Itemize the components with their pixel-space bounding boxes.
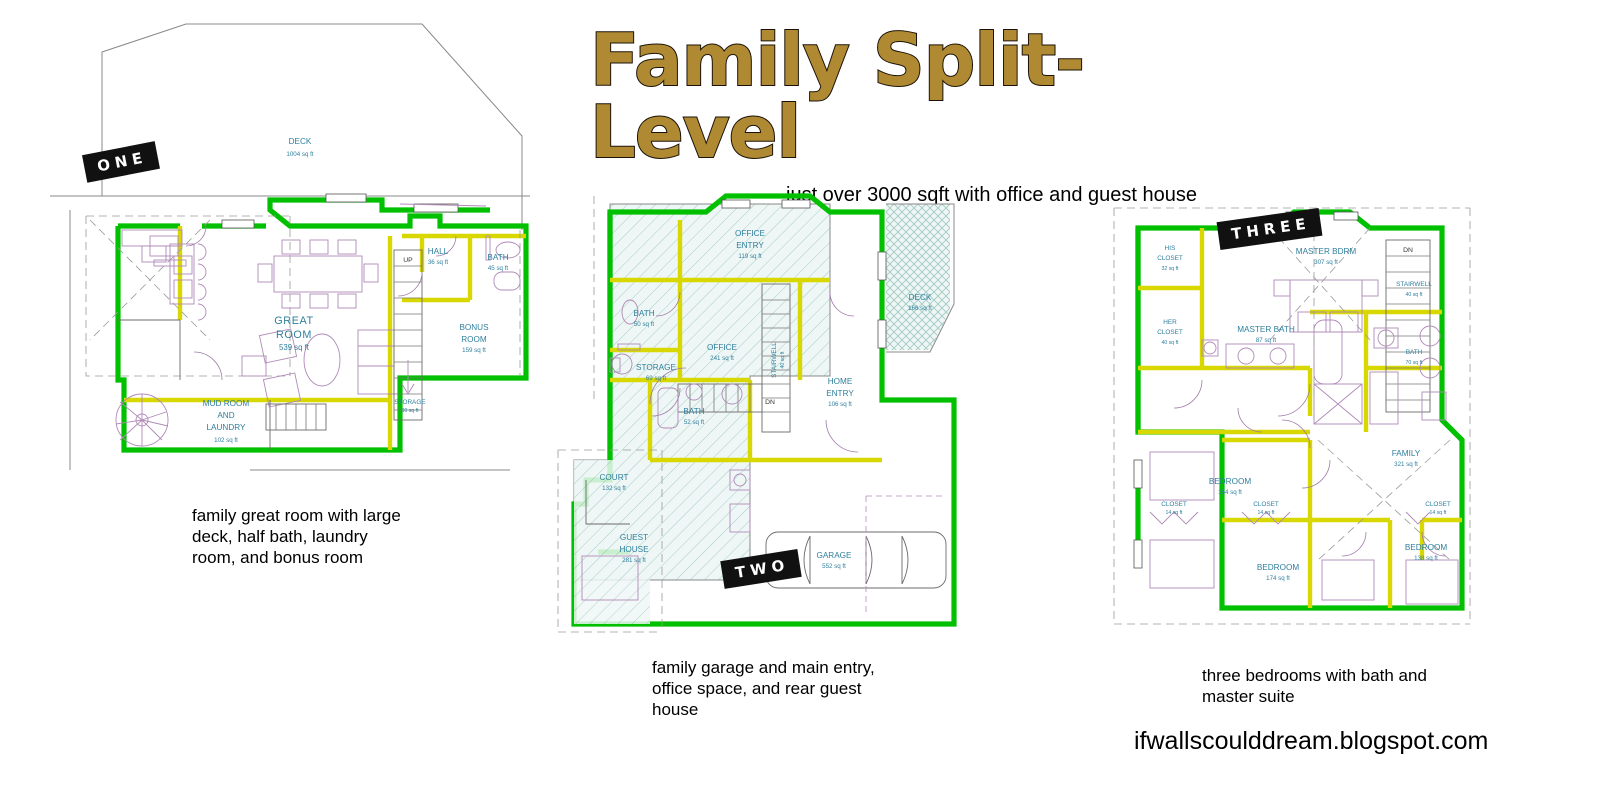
stair-marker-up: UP [403, 257, 413, 264]
kitchen-fixtures [122, 230, 206, 320]
svg-text:BATH: BATH [683, 407, 704, 416]
svg-text:CLOSET: CLOSET [1157, 255, 1183, 262]
svg-text:COURT: COURT [600, 473, 629, 482]
room-label-closet-2: CLOSET 14 sq ft [1253, 501, 1279, 516]
plan-one-caption: family great room with large deck, half … [192, 505, 407, 568]
svg-text:45 sq ft: 45 sq ft [488, 265, 509, 272]
svg-text:14 sq ft: 14 sq ft [1165, 510, 1183, 516]
svg-text:MASTER BDRM: MASTER BDRM [1296, 247, 1357, 256]
svg-text:87 sq ft: 87 sq ft [1256, 337, 1277, 344]
svg-text:MASTER BATH: MASTER BATH [1237, 325, 1295, 334]
svg-text:ROOM: ROOM [461, 335, 487, 344]
master-bath-fixtures [1202, 320, 1398, 424]
svg-text:174 sq ft: 174 sq ft [1266, 575, 1290, 582]
svg-text:HIS: HIS [1165, 245, 1176, 252]
svg-text:GREAT: GREAT [274, 315, 313, 327]
svg-text:CLOSET: CLOSET [1425, 501, 1451, 508]
svg-text:CLOSET: CLOSET [1161, 501, 1187, 508]
dining-furniture [258, 240, 378, 308]
room-label-hall: HALL 36 sq ft [428, 247, 449, 266]
svg-text:FAMILY: FAMILY [1392, 449, 1421, 458]
living-furniture [242, 329, 394, 407]
svg-text:102 sq ft: 102 sq ft [214, 437, 238, 444]
stairwell: DN [1386, 240, 1430, 412]
room-label-closet-3: CLOSET 14 sq ft [1425, 501, 1451, 516]
svg-text:30 sq ft: 30 sq ft [401, 408, 419, 414]
room-label-office-entry: OFFICE ENTRY 119 sq ft [735, 229, 766, 260]
room-label-deck: DECK 1004 sq ft [286, 137, 313, 158]
room-label-her-closet: HER CLOSET 40 sq ft [1157, 319, 1183, 346]
svg-text:DECK: DECK [909, 293, 932, 302]
svg-text:132 sq ft: 132 sq ft [602, 485, 626, 492]
windows [222, 194, 486, 228]
svg-text:154 sq ft: 154 sq ft [1218, 489, 1242, 496]
room-label-bonus-room: BONUS ROOM 159 sq ft [459, 323, 489, 354]
svg-text:166 sq ft: 166 sq ft [908, 305, 932, 312]
svg-text:HOUSE: HOUSE [619, 545, 649, 554]
svg-text:307 sq ft: 307 sq ft [1314, 259, 1338, 266]
room-label-bedroom-2: BEDROOM 138 sq ft [1405, 543, 1447, 562]
room-label-stairwell: STAIRWELL 40 sq ft [1396, 281, 1432, 298]
svg-text:DECK: DECK [289, 137, 312, 146]
svg-text:BATH: BATH [487, 253, 508, 262]
svg-text:HOME: HOME [828, 377, 853, 386]
bath-fixtures [486, 236, 520, 290]
svg-text:BATH: BATH [1406, 349, 1423, 356]
room-label-family: FAMILY 321 sq ft [1392, 449, 1421, 468]
svg-text:40 sq ft: 40 sq ft [1161, 340, 1179, 346]
svg-text:HALL: HALL [428, 247, 449, 256]
room-label-mud-room: MUD ROOM AND LAUNDRY 102 sq ft [203, 399, 250, 444]
svg-text:281 sq ft: 281 sq ft [622, 557, 646, 564]
svg-text:14 sq ft: 14 sq ft [1257, 510, 1275, 516]
svg-text:STAIRWELL: STAIRWELL [771, 342, 778, 378]
svg-text:52 sq ft: 52 sq ft [684, 419, 705, 426]
svg-text:BEDROOM: BEDROOM [1209, 477, 1251, 486]
svg-text:69 sq ft: 69 sq ft [646, 375, 667, 382]
svg-text:32 sq ft: 32 sq ft [1161, 266, 1179, 272]
svg-text:241 sq ft: 241 sq ft [710, 355, 734, 362]
room-label-bath: BATH 45 sq ft [487, 253, 508, 272]
floor-plan-one[interactable]: DECK 1004 sq ft [30, 20, 530, 490]
svg-text:ENTRY: ENTRY [826, 389, 854, 398]
room-label-bath: BATH 70 sq ft [1405, 349, 1423, 366]
partitions [118, 320, 270, 450]
svg-text:BEDROOM: BEDROOM [1257, 563, 1299, 572]
svg-text:STORAGE: STORAGE [394, 399, 425, 406]
plan-two-caption: family garage and main entry, office spa… [652, 657, 902, 720]
svg-text:40 sq ft: 40 sq ft [1405, 292, 1423, 298]
room-label-garage: GARAGE 552 sq ft [816, 551, 852, 570]
svg-text:CLOSET: CLOSET [1157, 329, 1183, 336]
svg-text:ROOM: ROOM [276, 329, 312, 341]
page-title: Family Split-Level [590, 24, 1290, 168]
svg-text:STAIRWELL: STAIRWELL [1396, 281, 1432, 288]
svg-text:40 sq ft: 40 sq ft [780, 351, 786, 369]
room-label-closet-1: CLOSET 14 sq ft [1161, 501, 1187, 516]
room-label-guest-house: GUEST HOUSE 281 sq ft [619, 533, 649, 564]
svg-text:552 sq ft: 552 sq ft [822, 563, 846, 570]
svg-text:STORAGE: STORAGE [636, 363, 676, 372]
svg-text:OFFICE: OFFICE [735, 229, 766, 238]
svg-text:GUEST: GUEST [620, 533, 648, 542]
svg-text:ENTRY: ENTRY [736, 241, 764, 250]
svg-text:321 sq ft: 321 sq ft [1394, 461, 1418, 468]
plan-three-caption: three bedrooms with bath and master suit… [1202, 665, 1432, 707]
svg-text:70 sq ft: 70 sq ft [1405, 360, 1423, 366]
svg-text:138 sq ft: 138 sq ft [1414, 555, 1438, 562]
svg-text:119 sq ft: 119 sq ft [738, 253, 762, 260]
room-label-master-bath: MASTER BATH 87 sq ft [1237, 325, 1295, 344]
svg-text:BATH: BATH [633, 309, 654, 318]
room-label-bedroom-1: BEDROOM 154 sq ft [1209, 477, 1251, 496]
svg-text:BEDROOM: BEDROOM [1405, 543, 1447, 552]
svg-text:539 sq ft: 539 sq ft [279, 343, 310, 352]
bedroom-furniture [1150, 452, 1458, 604]
svg-text:OFFICE: OFFICE [707, 343, 738, 352]
svg-text:GARAGE: GARAGE [816, 551, 852, 560]
svg-text:CLOSET: CLOSET [1253, 501, 1279, 508]
deck-zone [886, 204, 954, 352]
room-label-great-room: GREAT ROOM 539 sq ft [274, 315, 313, 352]
room-label-home-entry: HOME ENTRY 106 sq ft [826, 377, 854, 408]
stair-marker-dn: DN [1403, 247, 1413, 254]
svg-text:BONUS: BONUS [459, 323, 489, 332]
room-label-bedroom-3: BEDROOM 174 sq ft [1257, 563, 1299, 582]
blog-url[interactable]: ifwallscoulddream.blogspot.com [1134, 727, 1488, 756]
svg-text:106 sq ft: 106 sq ft [828, 401, 852, 408]
svg-text:LAUNDRY: LAUNDRY [207, 423, 247, 432]
ceiling-guides [86, 216, 520, 376]
svg-text:36 sq ft: 36 sq ft [428, 259, 449, 266]
svg-text:AND: AND [217, 411, 234, 420]
svg-text:50 sq ft: 50 sq ft [634, 321, 655, 328]
stair-marker-dn: DN [765, 399, 775, 406]
svg-text:MUD ROOM: MUD ROOM [203, 399, 250, 408]
svg-text:HER: HER [1163, 319, 1177, 326]
svg-text:1004 sq ft: 1004 sq ft [286, 151, 313, 158]
room-label-master-bdrm: MASTER BDRM 307 sq ft [1296, 247, 1357, 266]
room-label-his-closet: HIS CLOSET 32 sq ft [1157, 245, 1183, 272]
svg-text:159 sq ft: 159 sq ft [462, 347, 486, 354]
svg-text:14 sq ft: 14 sq ft [1429, 510, 1447, 516]
doors [186, 226, 456, 380]
stairs-secondary [266, 404, 326, 430]
